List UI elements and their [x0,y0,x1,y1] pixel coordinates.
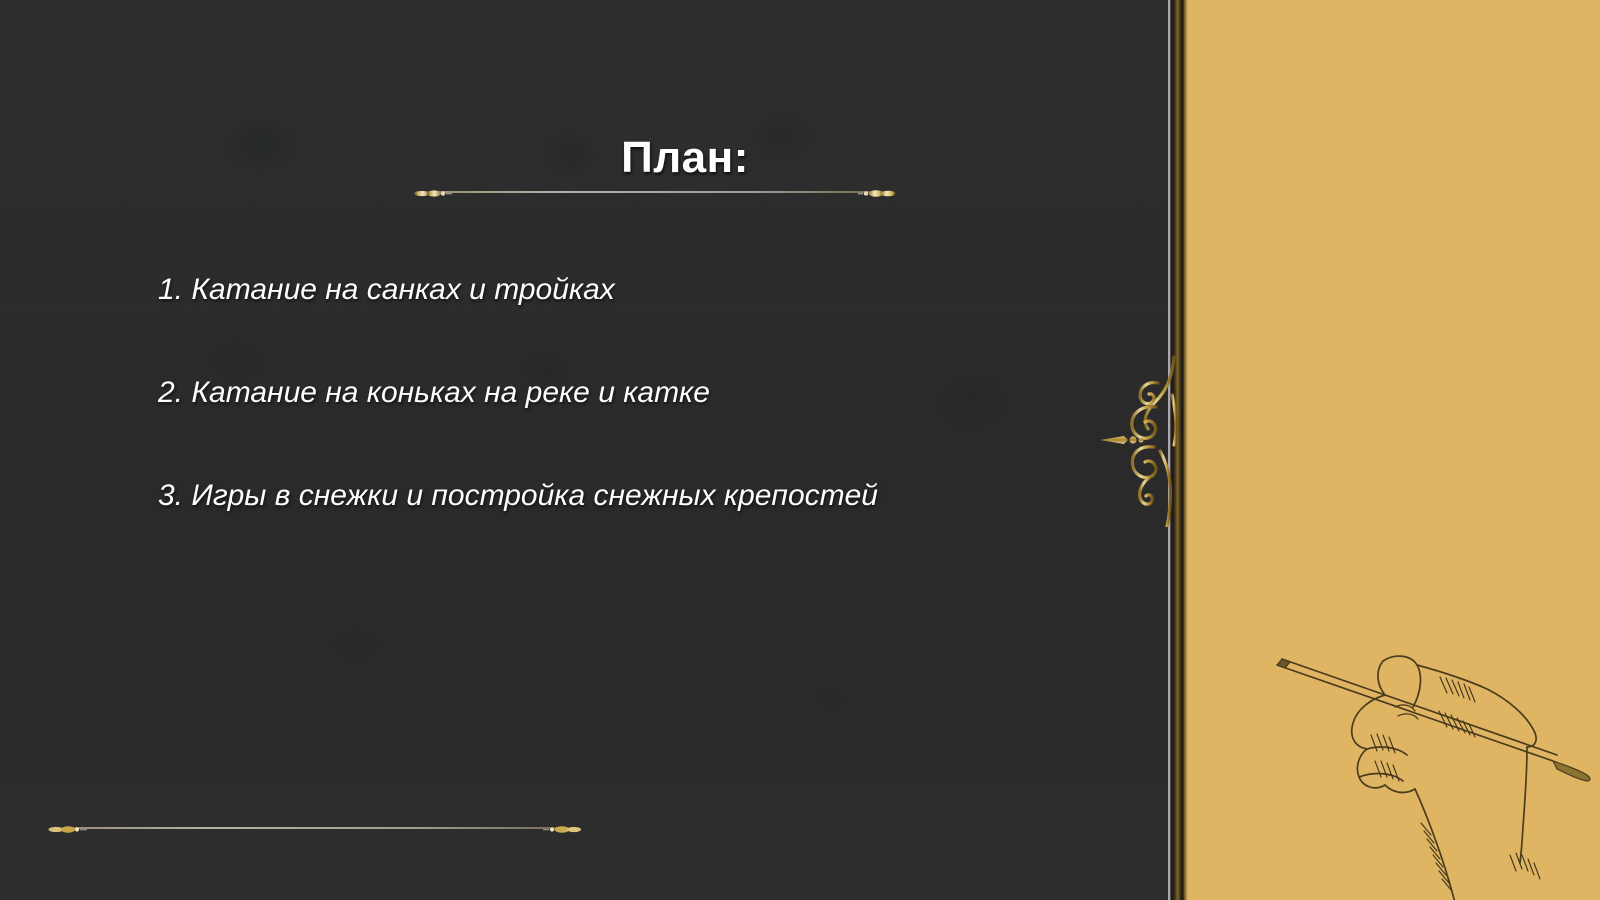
list-item: 1. Катание на санках и тройках [158,272,1118,308]
title-divider [425,185,885,199]
divider-cap-left-icon [48,822,88,833]
presentation-slide: План: [0,0,1600,900]
slide-title: План: [385,133,985,183]
list-item: 2. Катание на коньках на реке и катке [158,375,1118,411]
divider-rule [425,191,885,193]
vertical-ornamental-border [1166,0,1188,900]
divider-cap-right-icon [857,186,897,197]
divider-cap-right-icon [542,822,582,833]
divider-cap-left-icon [413,186,453,197]
plan-list: 1. Катание на санках и тройках 2. Катани… [158,272,1118,581]
list-item: 3. Игры в снежки и постройка снежных кре… [158,478,1118,514]
gold-side-panel [1186,0,1600,900]
divider-rule [60,827,570,829]
bottom-divider [60,821,570,835]
